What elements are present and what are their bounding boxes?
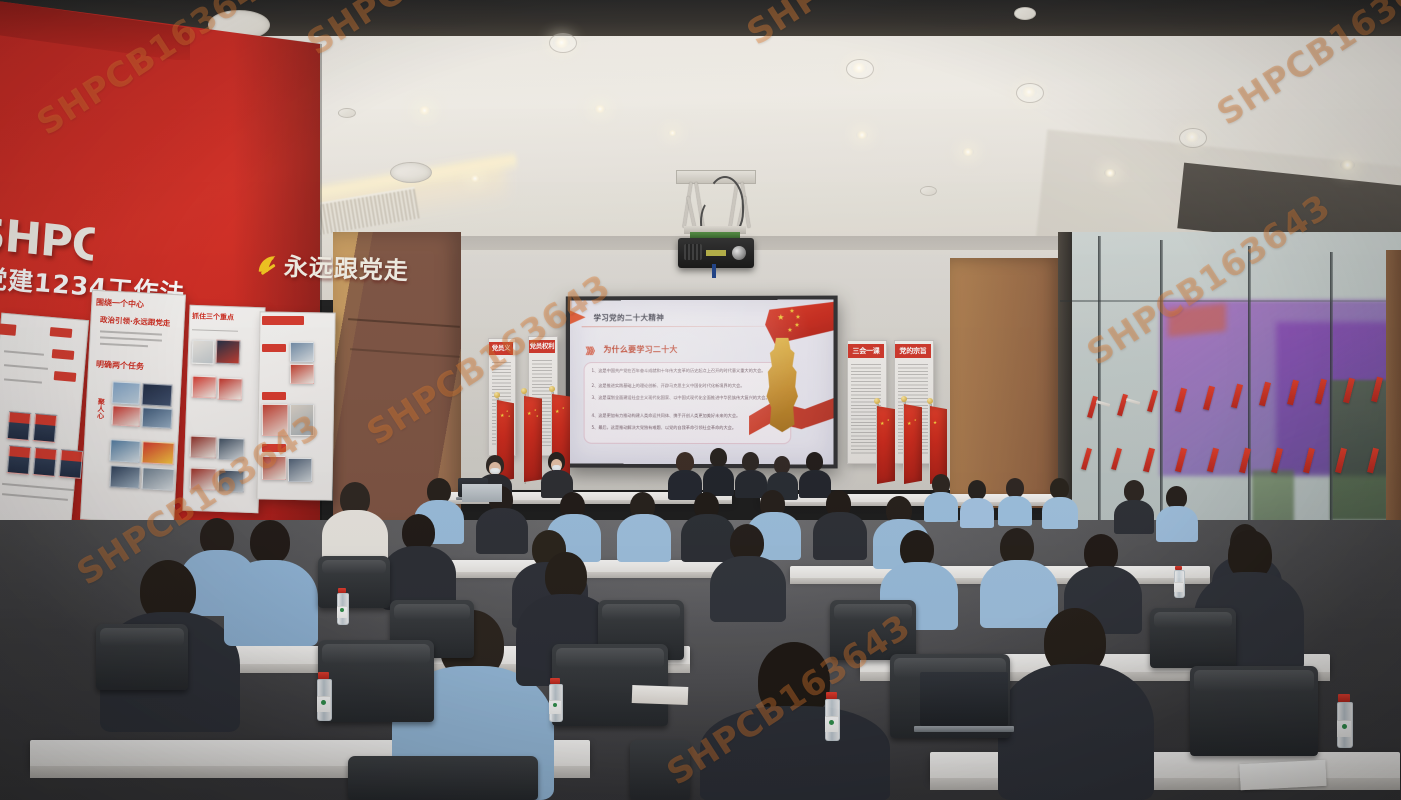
glass-mullion-horizontal (1060, 300, 1401, 302)
board-photo (141, 407, 172, 429)
board-photo (290, 404, 314, 436)
attendee-torso (224, 560, 318, 646)
downlight (1340, 160, 1355, 170)
bottle-label (1174, 582, 1183, 592)
info-panel-heading: 党的宗旨 (895, 344, 931, 358)
projector-vent (684, 244, 702, 260)
laptop-base (914, 726, 1014, 732)
board-tag (54, 371, 77, 382)
attendee-torso (924, 492, 958, 522)
attendee-torso (1114, 500, 1154, 534)
board-photo (141, 441, 174, 465)
attendee-torso (476, 508, 528, 554)
downlight-rim (846, 59, 874, 79)
chair-highlight (100, 628, 184, 646)
attendee-torso (998, 496, 1032, 526)
attendee-torso (700, 706, 890, 800)
board-photo (192, 376, 217, 399)
slide-chevron-icon: 》》》 (586, 344, 598, 357)
slide-bullet: 1、这是中国共产党在百年奋斗成就和十年伟大变革的历史起点上召开的时代意义重大的大… (592, 368, 784, 375)
slide-subtitle: 为什么要学习二十大 (603, 344, 677, 355)
attendee-head (1050, 478, 1069, 499)
projector-label (706, 250, 726, 256)
smoke-detector (338, 108, 356, 118)
board-photo (190, 436, 217, 459)
board-heading-three-focus: 抓住三个重点 (192, 311, 234, 322)
attendee-torso (1042, 497, 1078, 529)
bottle-logo-icon (1342, 724, 1347, 729)
meeting-chair[interactable] (348, 756, 538, 800)
chair-highlight (556, 648, 664, 668)
bottle-cap (1338, 694, 1350, 702)
downlight-rim (1179, 128, 1207, 148)
china-flag: ★ (930, 406, 947, 484)
downlight (470, 175, 480, 182)
board-tag (0, 323, 16, 336)
info-panel-heading: 三会一课 (848, 344, 884, 358)
board-photo (109, 439, 140, 463)
board-photo (218, 438, 245, 461)
slide-title: 学习党的二十大精神 (594, 312, 665, 323)
bottle-cap (826, 692, 837, 699)
bottle-logo-icon (829, 720, 834, 725)
board-tag (52, 349, 75, 360)
bottle-logo-icon (340, 608, 344, 612)
attendee-torso (799, 470, 831, 498)
chair-highlight (322, 644, 430, 664)
board-photo (218, 378, 243, 401)
ceiling-speaker (390, 162, 432, 183)
meeting-chair[interactable] (630, 740, 690, 800)
smoke-detector (1014, 7, 1036, 20)
downlight (594, 105, 606, 113)
attendee-head (742, 452, 759, 471)
board-photo (190, 468, 217, 491)
attendee-torso (813, 512, 867, 560)
board-photo (192, 340, 215, 365)
chair-highlight (834, 604, 912, 620)
bottle-cap (318, 672, 329, 679)
slide-bullet: 3、这是谋划全面建设社会主义现代化国家、以中国式现代化全面推进中华民族伟大复兴的… (592, 395, 784, 402)
attendee-torso (681, 514, 735, 562)
projector-lens (732, 246, 746, 260)
board-photo (262, 456, 286, 480)
board-portrait-photo (7, 411, 31, 441)
board-tag (262, 444, 286, 452)
attendee-head (1124, 480, 1144, 502)
chair-highlight (1154, 612, 1232, 628)
board-vertical-caption: 聚人心 (95, 398, 106, 419)
board-photo (290, 364, 314, 384)
attendee-torso (617, 514, 671, 562)
board-tag (262, 344, 286, 352)
downlight (668, 130, 677, 136)
china-flag: ★ ★ ★ (524, 396, 542, 482)
downlight (856, 131, 868, 139)
board-photo (111, 405, 140, 426)
desk-items-tray (462, 484, 502, 502)
wood-panel-right (950, 258, 1060, 508)
smoke-detector (920, 186, 937, 196)
board-tag (262, 392, 286, 400)
chair-highlight (1194, 670, 1314, 692)
board-photo (141, 383, 172, 407)
notebook-papers[interactable] (632, 685, 689, 705)
chair-highlight (322, 560, 386, 574)
photo-scene: SHPCB 党建1234工作法 永远跟党走 围绕一个中心 政治引领·永远跟党走 … (0, 0, 1401, 800)
board-portrait-photo (33, 447, 57, 477)
board-tag (262, 316, 304, 325)
board-photo (109, 465, 140, 489)
projector-signal-cable (712, 264, 716, 278)
foliage-reflection (1330, 380, 1388, 520)
slide-accent-triangle-icon (570, 310, 586, 324)
board-photo (141, 467, 174, 491)
board-portrait-photo (59, 449, 83, 479)
attendee-torso (960, 498, 994, 528)
board-portrait-photo (33, 413, 57, 443)
board-photo (218, 470, 245, 493)
attendee-head (545, 552, 587, 600)
attendee-head (968, 480, 986, 500)
downlight-rim (549, 33, 577, 53)
notebook-papers[interactable] (1239, 760, 1326, 790)
downlight (962, 148, 974, 156)
laptop-screen (920, 672, 1008, 726)
attendee-torso (980, 560, 1058, 628)
attendee-head (1006, 478, 1024, 498)
chair-highlight (602, 604, 680, 620)
attendee-head (710, 448, 727, 467)
china-flag: ★ ★ (904, 404, 922, 484)
info-panel-heading: 党员义务 (489, 342, 513, 355)
board-photo (111, 381, 140, 404)
projection-screen[interactable]: 学习党的二十大精神 》》》 为什么要学习二十大 1、这是中国共产党在百年奋斗成就… (570, 300, 834, 465)
board-photo (216, 340, 241, 365)
hammer-and-sickle-icon (256, 253, 281, 278)
chair-highlight (394, 604, 470, 620)
board-portrait-photo (7, 445, 31, 475)
board-tag (50, 327, 73, 338)
china-flag: ★ ★ (877, 406, 895, 484)
slide-bullet: 2、这是推进实践基础上的理论创新、开辟马克思主义中国化时代化新境界的大会。 (592, 383, 784, 390)
attendee-head (676, 452, 694, 472)
attendee-head (932, 474, 950, 494)
attendee-head (806, 452, 823, 471)
attendee-head (250, 520, 290, 564)
always-follow-the-party-slogan: 永远跟党走 (283, 247, 409, 286)
attendee-torso (710, 556, 786, 622)
bottle-logo-icon (321, 700, 326, 705)
downlight (418, 106, 431, 115)
bottle-logo-icon (553, 703, 557, 707)
attendee-torso (1156, 506, 1198, 542)
downlight (1104, 169, 1116, 177)
info-panel-heading: 党员权利 (529, 340, 555, 353)
board-photo (262, 404, 288, 436)
attendee-torso (998, 664, 1154, 800)
board-photo (290, 342, 314, 362)
board-photo (288, 458, 312, 482)
downlight-rim (1016, 83, 1044, 103)
slide-china-flag-graphic: ★ ★ ★ ★ ★ (765, 302, 833, 346)
